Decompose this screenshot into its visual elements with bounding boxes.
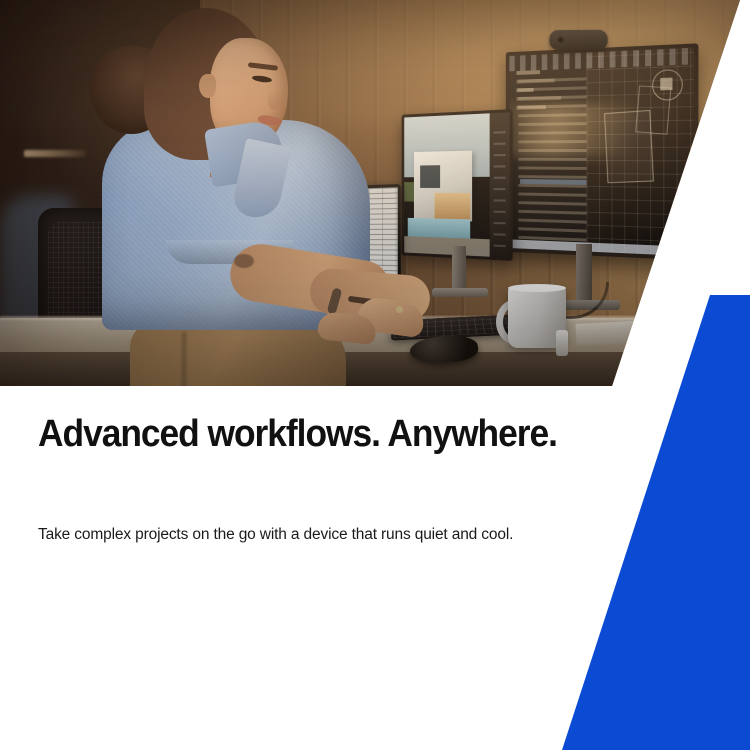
render-side-panel [490,112,510,257]
desk-object [556,330,568,356]
monitor-architectural-render [402,109,513,261]
render-window [420,166,440,188]
cad-drawing-pane [587,48,694,257]
page-title: Advanced workflows. Anywhere. [38,412,540,456]
promo-card: Advanced workflows. Anywhere. Take compl… [0,0,750,750]
trouser-fold [182,332,186,386]
webcam-icon [549,30,607,50]
monitor-stand-foot [432,288,488,297]
arm-tattoo [234,254,254,268]
finger-ring [396,306,403,313]
text-block: Advanced workflows. Anywhere. Take compl… [38,412,578,456]
monitor-code-cad [506,43,699,260]
monitor-stand [452,246,466,292]
body-text: Take complex projects on the go with a d… [38,524,530,546]
desk-papers [575,320,650,346]
mug-rim [508,284,566,292]
ear [199,74,216,98]
hero-image [0,0,750,386]
